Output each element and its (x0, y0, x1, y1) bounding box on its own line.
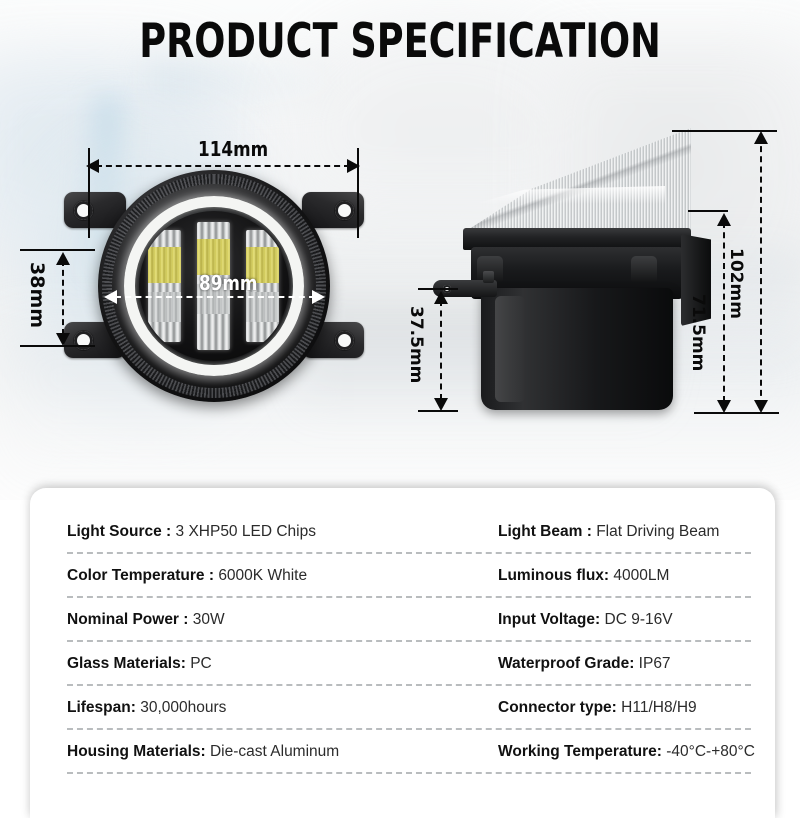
arrow-up-375mm (434, 291, 448, 304)
spec-cell-right: Waterproof Grade: IP67 (465, 656, 775, 672)
arrow-down-715mm (717, 400, 731, 413)
spec-key: Housing Materials: (67, 743, 206, 760)
spec-cell-left: Lifespan: 30,000hours (30, 700, 465, 716)
table-row: Lifespan: 30,000hours Connector type: H1… (30, 686, 775, 730)
arrow-down-38mm (56, 333, 70, 346)
spec-cell-left: Light Source : 3 XHP50 LED Chips (30, 524, 465, 540)
dimension-line-102mm (760, 136, 762, 406)
led-phosphor (148, 247, 181, 283)
arrow-down-102mm (754, 400, 768, 413)
spec-key: Light Beam : (498, 523, 592, 540)
spec-key: Luminous flux: (498, 567, 609, 584)
arrow-right-89mm (312, 290, 325, 304)
page-title: PRODUCT SPECIFICATION (88, 14, 712, 69)
spec-value: H11/H8/H9 (621, 699, 697, 716)
spec-key: Input Voltage: (498, 611, 600, 628)
arrow-right-114mm (347, 159, 360, 173)
dimension-label-715mm: 71.5mm (688, 294, 708, 371)
specification-panel: Light Source : 3 XHP50 LED Chips Light B… (30, 488, 775, 818)
dimension-label-114mm: 114mm (198, 137, 268, 161)
spec-key: Color Temperature : (67, 567, 214, 584)
arrow-down-375mm (434, 398, 448, 411)
spec-value: Flat Driving Beam (596, 523, 719, 540)
table-row: Glass Materials: PC Waterproof Grade: IP… (30, 642, 775, 686)
dimension-line-89mm (115, 296, 315, 298)
spec-value: Die-cast Aluminum (210, 743, 339, 760)
arrow-left-114mm (86, 159, 99, 173)
extension-line-top-375mm (418, 288, 458, 290)
lens-highlight (475, 186, 665, 204)
extension-line-top-38mm (20, 249, 95, 251)
spec-key: Lifespan: (67, 699, 136, 716)
spec-cell-left: Housing Materials: Die-cast Aluminum (30, 744, 465, 760)
arrow-up-38mm (56, 252, 70, 265)
spec-value: 6000K White (218, 567, 307, 584)
dimension-label-102mm: 102mm (726, 248, 746, 319)
table-row: Light Source : 3 XHP50 LED Chips Light B… (30, 510, 775, 554)
spec-value: 3 XHP50 LED Chips (176, 523, 316, 540)
spec-cell-right: Light Beam : Flat Driving Beam (465, 524, 775, 540)
connector-post (483, 271, 494, 283)
dimension-label-89mm: 89mm (199, 271, 257, 295)
arrow-left-89mm (104, 290, 117, 304)
dimension-line-375mm (440, 300, 442, 400)
spec-cell-left: Glass Materials: PC (30, 656, 465, 672)
arrow-up-102mm (754, 131, 768, 144)
dimension-label-375mm: 37.5mm (406, 306, 426, 383)
spec-value: 30,000hours (140, 699, 226, 716)
fog-light-side-view (455, 128, 705, 413)
barrel-highlight (495, 296, 525, 402)
spec-cell-left: Color Temperature : 6000K White (30, 568, 465, 584)
spec-key: Waterproof Grade: (498, 655, 634, 672)
dimension-line-114mm (96, 165, 350, 167)
dimension-line-715mm (723, 222, 725, 402)
extension-line-top-715mm (688, 210, 728, 212)
spec-key: Light Source : (67, 523, 171, 540)
spec-key: Glass Materials: (67, 655, 186, 672)
retaining-clip-right (631, 256, 657, 282)
table-row: Nominal Power : 30W Input Voltage: DC 9-… (30, 598, 775, 642)
spec-cell-right: Luminous flux: 4000LM (465, 568, 775, 584)
spec-cell-right: Working Temperature: -40°C-+80°C (465, 744, 775, 760)
spec-value: 4000LM (613, 567, 669, 584)
spec-cell-right: Input Voltage: DC 9-16V (465, 612, 775, 628)
row-separator (67, 772, 751, 774)
spec-key: Working Temperature: (498, 743, 662, 760)
spec-value: -40°C-+80°C (666, 743, 755, 760)
spec-value: 30W (193, 611, 225, 628)
spec-value: DC 9-16V (605, 611, 673, 628)
lens-edge (463, 128, 691, 233)
spec-key: Connector type: (498, 699, 617, 716)
arrow-up-715mm (717, 213, 731, 226)
spec-cell-left: Nominal Power : 30W (30, 612, 465, 628)
led-chip (148, 230, 181, 342)
led-phosphor (197, 239, 230, 275)
spec-cell-right: Connector type: H11/H8/H9 (465, 700, 775, 716)
spec-value: PC (190, 655, 212, 672)
table-row: Housing Materials: Die-cast Aluminum Wor… (30, 730, 775, 774)
spec-value: IP67 (639, 655, 671, 672)
spec-key: Nominal Power : (67, 611, 188, 628)
dimension-label-38mm: 38mm (26, 262, 48, 328)
table-row: Color Temperature : 6000K White Luminous… (30, 554, 775, 598)
dimension-line-38mm (62, 260, 64, 335)
